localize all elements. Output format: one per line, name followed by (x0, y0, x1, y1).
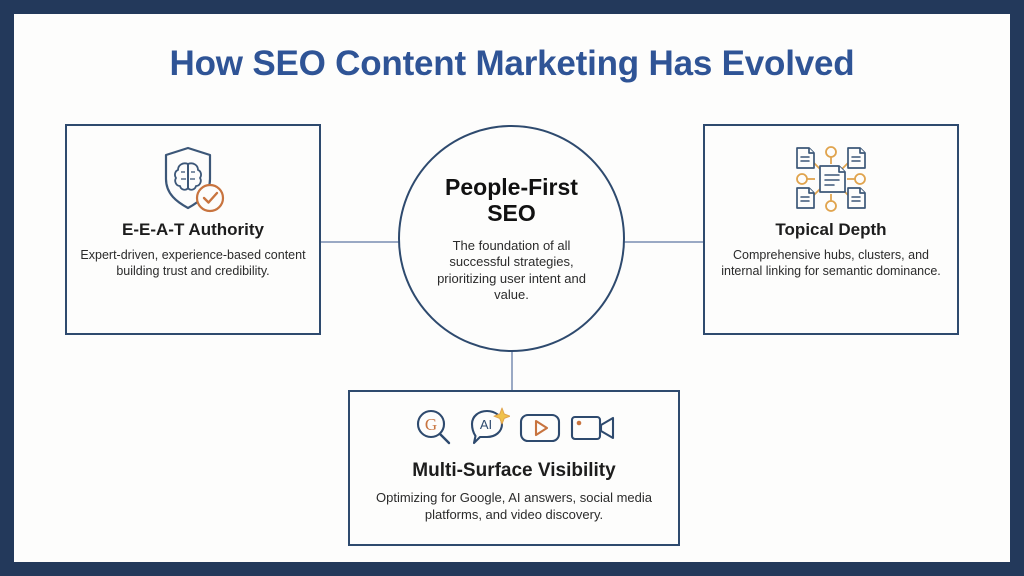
ai-chat-sparkle-icon: AI (464, 406, 510, 450)
center-title: People-First SEO (445, 174, 578, 226)
center-node-people-first-seo[interactable]: People-First SEO The foundation of all s… (398, 125, 625, 352)
center-body: The foundation of all successful strateg… (400, 238, 623, 304)
card-body: Comprehensive hubs, clusters, and intern… (705, 247, 957, 279)
card-multi-surface-visibility[interactable]: G AI Multi-Surface Visibility Optimizing… (348, 390, 680, 546)
google-g-letter: G (425, 415, 437, 434)
page-title: How SEO Content Marketing Has Evolved (14, 44, 1010, 84)
card-title: Topical Depth (775, 220, 886, 240)
card-title: E-E-A-T Authority (122, 220, 264, 240)
connector-right (623, 241, 705, 243)
card-topical-depth[interactable]: Topical Depth Comprehensive hubs, cluste… (703, 124, 959, 335)
google-search-magnifier-icon: G (412, 406, 456, 450)
video-camera-icon (570, 411, 616, 445)
surface-icon-row: G AI (412, 404, 616, 452)
document-network-icon (789, 142, 873, 216)
card-eeat-authority[interactable]: E-E-A-T Authority Expert-driven, experie… (65, 124, 321, 335)
shield-brain-check-icon (154, 142, 232, 216)
card-body: Expert-driven, experience-based content … (67, 247, 319, 279)
connector-left (321, 241, 400, 243)
play-button-icon (518, 410, 562, 446)
infographic-canvas: How SEO Content Marketing Has Evolved E-… (14, 14, 1010, 562)
card-body: Optimizing for Google, AI answers, socia… (350, 489, 678, 523)
ai-letters: AI (480, 417, 492, 432)
connector-bottom (511, 350, 513, 392)
card-title: Multi-Surface Visibility (412, 460, 615, 482)
